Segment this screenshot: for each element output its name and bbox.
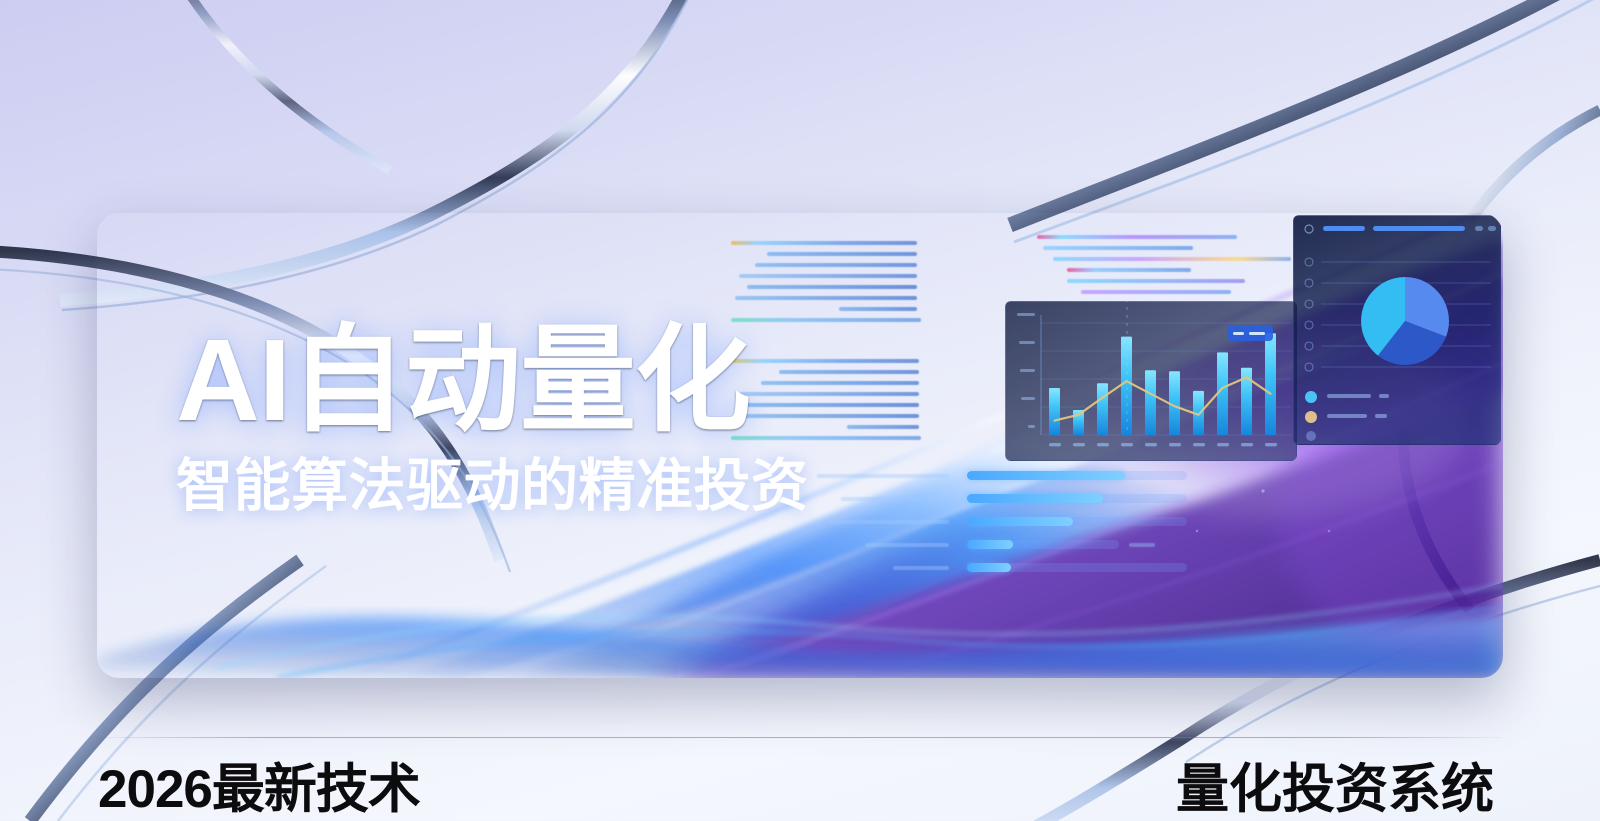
footer-left-label: 2026最新技术	[98, 747, 420, 821]
hero-subheadline: 智能算法驱动的精准投资	[176, 458, 809, 515]
hero-headline: AI自动量化	[176, 322, 809, 438]
footer-divider	[96, 737, 1502, 738]
footer-right-label: 量化投资系统	[1176, 747, 1494, 821]
hero-text-block: AI自动量化 智能算法驱动的精准投资	[176, 322, 809, 515]
